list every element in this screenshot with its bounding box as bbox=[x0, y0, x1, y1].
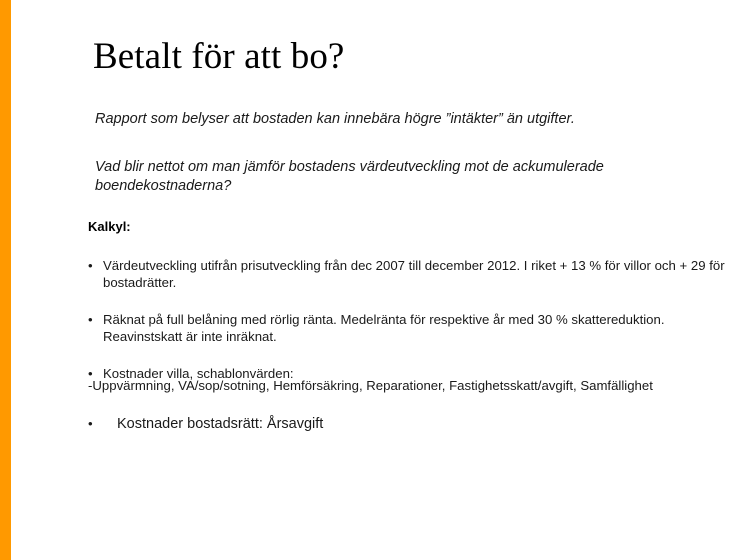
list-item-label: Kostnader bostadsrätt: Årsavgift bbox=[117, 416, 323, 432]
list-item: • Värdeutveckling utifrån prisutveckling… bbox=[88, 258, 733, 291]
slide-canvas: Betalt för att bo? Rapport som belyser a… bbox=[0, 0, 746, 560]
list-item: • Kostnader bostadsrätt: Årsavgift bbox=[88, 415, 733, 433]
lead-paragraph-2: Vad blir nettot om man jämför bostadens … bbox=[95, 158, 695, 196]
bullet-icon: • bbox=[88, 415, 93, 433]
lead-paragraph-1: Rapport som belyser att bostaden kan inn… bbox=[95, 110, 715, 129]
list-item-label: Räknat på full belåning med rörlig ränta… bbox=[103, 312, 665, 344]
sub-line-cost-items: -Uppvärmning, VA/sop/sotning, Hemförsäkr… bbox=[88, 378, 733, 395]
bullet-list: • Värdeutveckling utifrån prisutveckling… bbox=[88, 258, 733, 433]
list-item: • Räknat på full belåning med rörlig rän… bbox=[88, 312, 733, 345]
section-label-kalkyl: Kalkyl: bbox=[88, 219, 131, 234]
slide-content: Betalt för att bo? Rapport som belyser a… bbox=[0, 0, 746, 560]
bullet-icon: • bbox=[88, 258, 93, 275]
bullet-icon: • bbox=[88, 312, 93, 329]
page-title: Betalt för att bo? bbox=[93, 36, 344, 79]
list-item-label: Värdeutveckling utifrån prisutveckling f… bbox=[103, 258, 725, 290]
